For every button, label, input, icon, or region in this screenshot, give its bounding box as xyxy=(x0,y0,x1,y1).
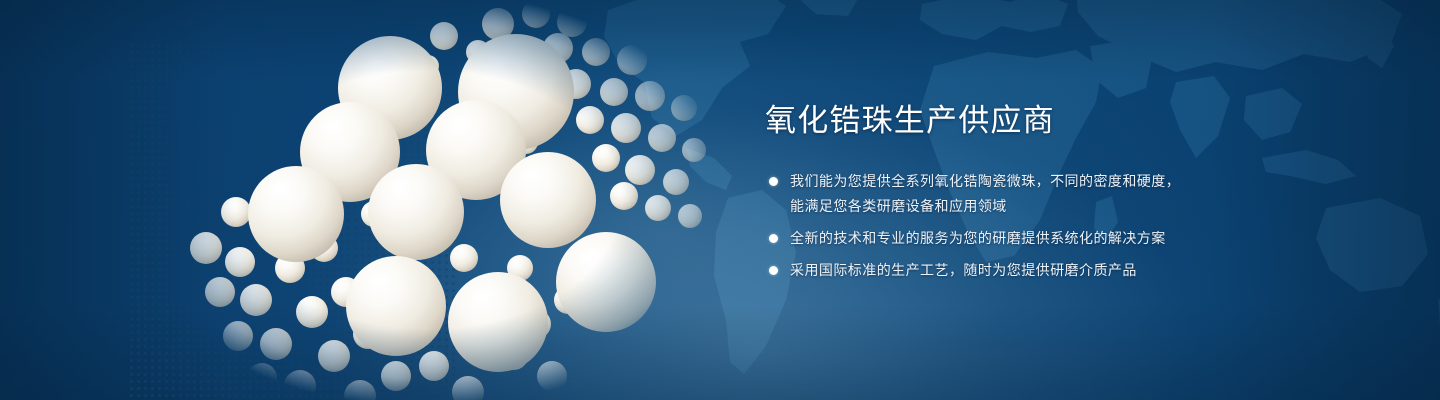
list-item: 我们能为您提供全系列氧化锆陶瓷微珠，不同的密度和硬度， 能满足您各类研磨设备和应… xyxy=(765,169,1385,219)
bullet-dot-icon xyxy=(769,177,778,186)
page-title: 氧化锆珠生产供应商 xyxy=(765,104,1385,139)
list-item-line: 采用国际标准的生产工艺，随时为您提供研磨介质产品 xyxy=(790,258,1385,283)
list-item: 采用国际标准的生产工艺，随时为您提供研磨介质产品 xyxy=(765,258,1385,283)
list-item-line: 我们能为您提供全系列氧化锆陶瓷微珠，不同的密度和硬度， xyxy=(790,169,1385,194)
zirconia-beads-photo xyxy=(128,0,728,400)
banner-copy: 氧化锆珠生产供应商 我们能为您提供全系列氧化锆陶瓷微珠，不同的密度和硬度， 能满… xyxy=(765,104,1385,283)
bullet-dot-icon xyxy=(769,266,778,275)
hero-banner: 氧化锆珠生产供应商 我们能为您提供全系列氧化锆陶瓷微珠，不同的密度和硬度， 能满… xyxy=(0,0,1440,400)
list-item-line: 能满足您各类研磨设备和应用领域 xyxy=(790,194,1385,219)
list-item: 全新的技术和专业的服务为您的研磨提供系统化的解决方案 xyxy=(765,226,1385,251)
bullet-dot-icon xyxy=(769,234,778,243)
list-item-line: 全新的技术和专业的服务为您的研磨提供系统化的解决方案 xyxy=(790,226,1385,251)
feature-list: 我们能为您提供全系列氧化锆陶瓷微珠，不同的密度和硬度， 能满足您各类研磨设备和应… xyxy=(765,169,1385,283)
